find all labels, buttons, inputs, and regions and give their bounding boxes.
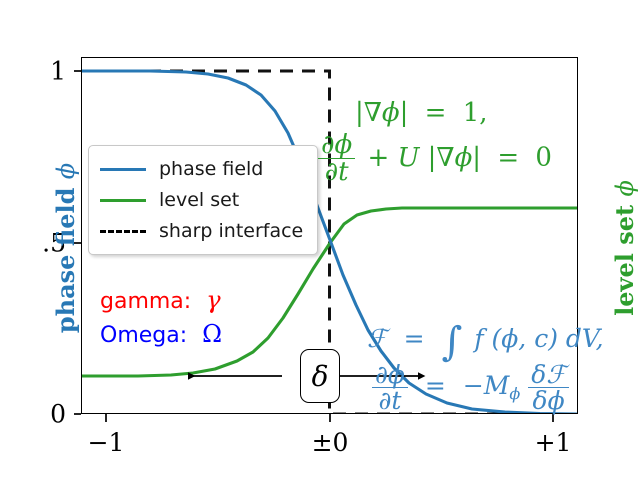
free-energy-equals: = bbox=[395, 324, 434, 353]
legend-label-phase-field: phase field bbox=[159, 158, 263, 180]
delta-symbol: δ bbox=[312, 360, 329, 393]
transport-rhs: 0 bbox=[535, 143, 552, 173]
free-energy-rhs: f (ϕ, c) dV, bbox=[474, 324, 603, 353]
legend[interactable]: phase field level set sharp interface bbox=[88, 145, 318, 255]
legend-label-level-set: level set bbox=[159, 189, 239, 211]
y-axis-label-left: phase field ϕ bbox=[54, 98, 78, 398]
annotation-gamma: gamma: γ bbox=[100, 288, 221, 313]
annotation-gamma-text: gamma: bbox=[100, 289, 191, 314]
transport-denominator: ∂t bbox=[318, 158, 355, 185]
legend-swatch-phase-field bbox=[100, 162, 146, 176]
transport-middle: + U |∇ϕ| bbox=[363, 143, 481, 173]
integral-sign: ∫ bbox=[442, 319, 467, 365]
annotation-gamma-symbol: γ bbox=[198, 286, 220, 314]
evolution-denominator: ∂t bbox=[372, 387, 408, 413]
delta-annotation-box: δ bbox=[300, 349, 340, 403]
legend-item-level-set[interactable]: level set bbox=[100, 184, 303, 215]
evolution-variational-fraction: δℱ δϕ bbox=[528, 362, 569, 413]
legend-item-phase-field[interactable]: phase field bbox=[100, 153, 303, 184]
ytick-label-1: 1 bbox=[14, 59, 66, 84]
variational-denominator: δϕ bbox=[528, 387, 569, 413]
y-axis-label-right: level set ϕ bbox=[613, 98, 637, 398]
figure-canvas: 1 .5 0 −1 ±0 +1 phase field ϕ level set … bbox=[0, 0, 640, 480]
eikonal-equals: = bbox=[417, 98, 455, 128]
annotation-omega-symbol: Ω bbox=[194, 320, 222, 348]
eikonal-gradient: |∇ϕ| bbox=[355, 98, 408, 128]
evolution-numerator: ∂ϕ bbox=[372, 362, 408, 387]
transport-fraction: ∂ϕ ∂t bbox=[318, 132, 355, 185]
evolution-mobility-subscript: ϕ bbox=[509, 384, 520, 403]
y-axis-label-left-symbol: ϕ bbox=[52, 163, 80, 179]
legend-swatch-level-set bbox=[100, 193, 146, 207]
annotation-omega-text: Omega: bbox=[100, 323, 187, 348]
equation-phase-field-evolution: ∂ϕ ∂t = −Mϕ δℱ δϕ bbox=[372, 362, 569, 413]
xtick-label-minus-1: −1 bbox=[61, 430, 151, 455]
equation-eikonal: |∇ϕ| = 1, bbox=[355, 100, 488, 126]
free-energy-lhs: ℱ bbox=[367, 324, 387, 353]
eikonal-rhs: 1, bbox=[463, 98, 488, 128]
x-axis-ticks bbox=[106, 414, 553, 422]
annotation-omega: Omega: Ω bbox=[100, 322, 222, 347]
transport-numerator: ∂ϕ bbox=[318, 132, 355, 158]
y-axis-label-right-text: level set bbox=[610, 205, 639, 316]
xtick-label-zero: ±0 bbox=[285, 430, 375, 455]
y-axis-label-left-text: phase field bbox=[51, 188, 80, 334]
evolution-lhs-fraction: ∂ϕ ∂t bbox=[372, 362, 408, 413]
legend-item-sharp-interface[interactable]: sharp interface bbox=[100, 215, 303, 246]
legend-label-sharp-interface: sharp interface bbox=[159, 220, 303, 242]
legend-swatch-sharp-interface bbox=[100, 224, 146, 238]
evolution-equals: = bbox=[416, 371, 455, 400]
equation-free-energy: ℱ = ∫ f (ϕ, c) dV, bbox=[367, 322, 604, 362]
variational-numerator: δℱ bbox=[528, 362, 569, 387]
y-axis-label-right-symbol: ϕ bbox=[611, 180, 639, 196]
ytick-label-0: 0 bbox=[14, 402, 66, 427]
evolution-mobility: −M bbox=[463, 371, 510, 400]
transport-equals: = bbox=[489, 143, 527, 173]
xtick-label-plus-1: +1 bbox=[508, 430, 598, 455]
equation-level-set-transport: ∂ϕ ∂t + U |∇ϕ| = 0 bbox=[318, 132, 552, 185]
